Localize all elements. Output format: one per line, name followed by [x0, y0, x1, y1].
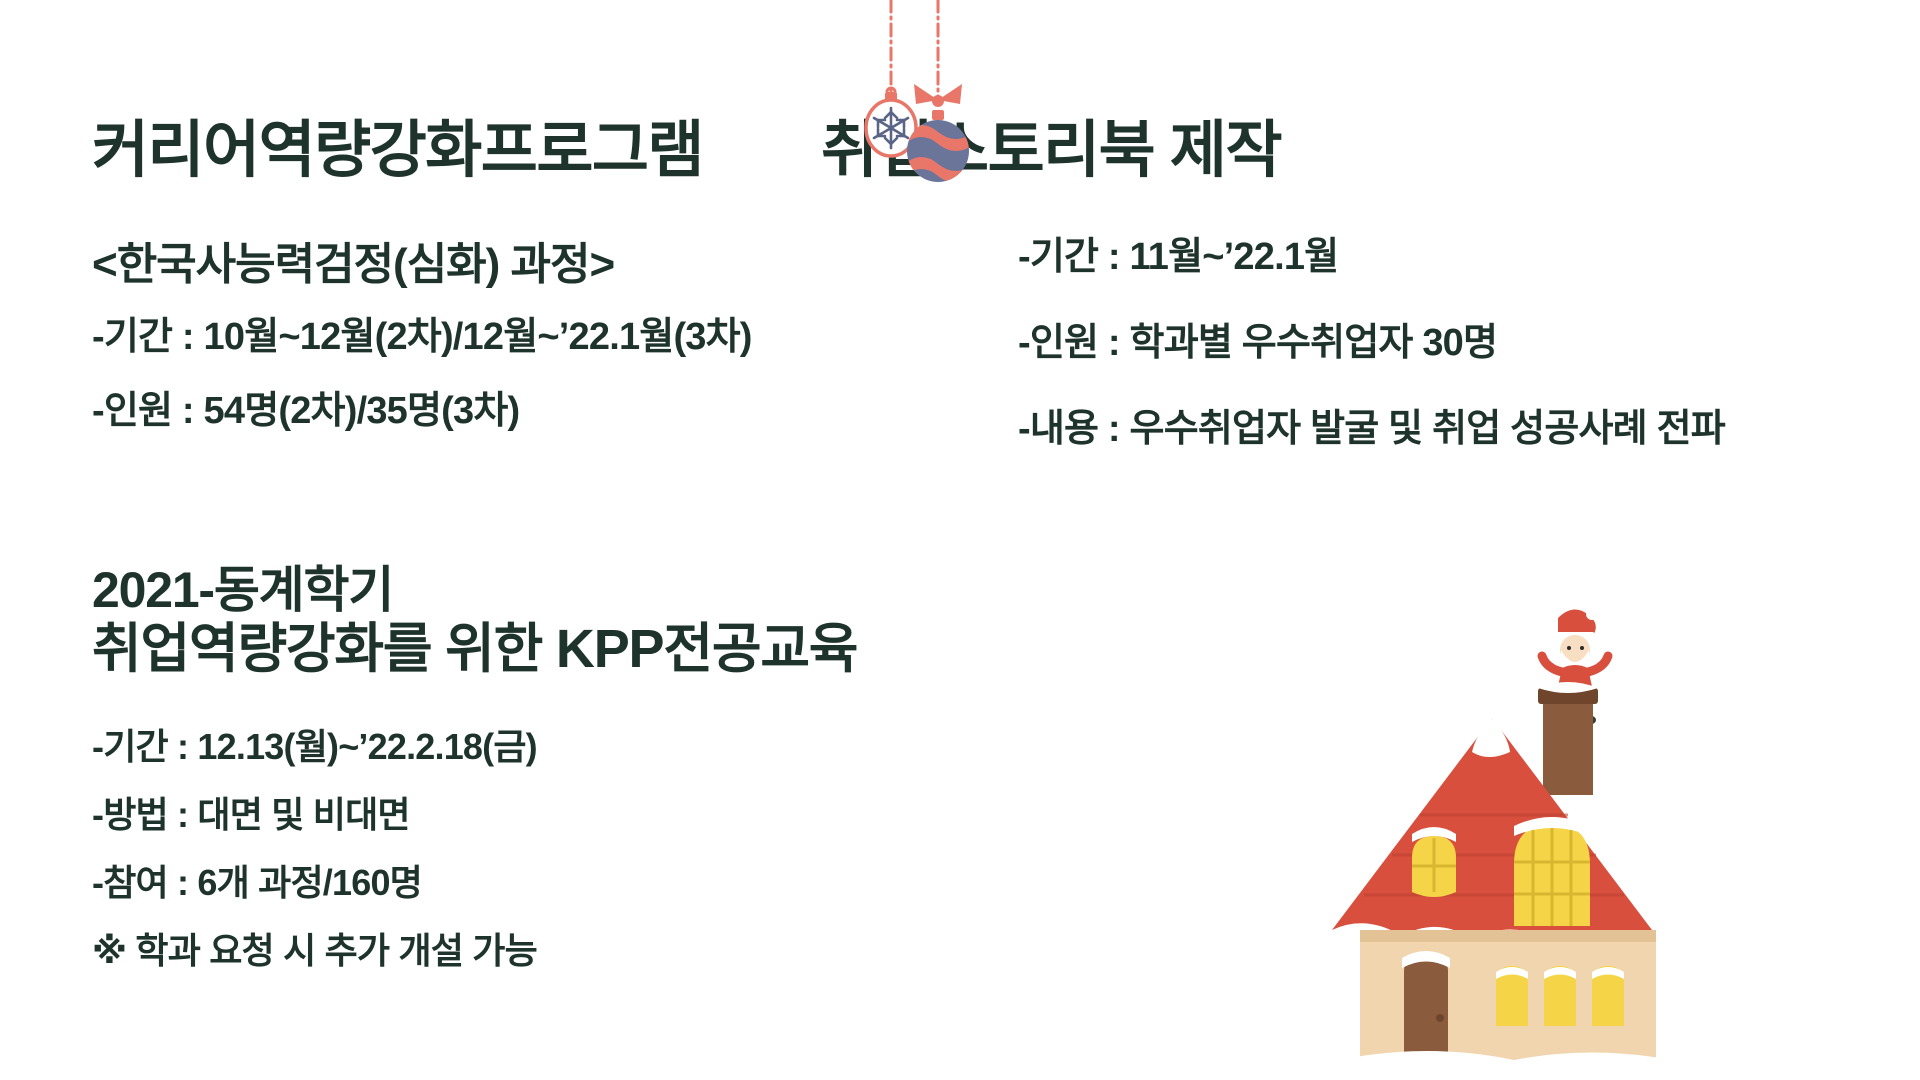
tan-house-wall-icon: [1360, 930, 1656, 1060]
ground-snow-icon: [1338, 1051, 1682, 1070]
yellow-windows-icon: [1412, 817, 1624, 1026]
section-kpp-note-line: ※ 학과 요청 시 추가 개설 가능: [92, 933, 1192, 969]
right-column-period-line: -기간 : 11월~’22.1월: [1018, 238, 1898, 276]
left-column-period-line: -기간 : 10월~12월(2차)/12월~’22.1월(3차): [92, 318, 972, 356]
chimney-icon: [1538, 682, 1598, 795]
section-kpp-period-line: -기간 : 12.13(월)~’22.2.18(금): [92, 729, 1192, 765]
section-kpp: 2021-동계학기 취업역량강화를 위한 KPP전공교육 -기간 : 12.13…: [92, 562, 1192, 969]
right-column-headcount-line: -인원 : 학과별 우수취업자 30명: [1018, 324, 1898, 362]
right-column-content-line: -내용 : 우수취업자 발굴 및 취업 성공사례 전파: [1018, 410, 1898, 448]
right-column: -기간 : 11월~’22.1월 -인원 : 학과별 우수취업자 30명 -내용…: [1018, 238, 1898, 496]
santa-on-snowy-house-illustration: [1300, 600, 1720, 1070]
title-right-text: 취업스토리북 제작: [821, 120, 1281, 182]
left-column-heading: <한국사능력검정(심화) 과정>: [92, 238, 972, 292]
section-kpp-participation-line: -참여 : 6개 과정/160명: [92, 865, 1192, 901]
snow-covered-red-roof-icon: [1332, 718, 1652, 958]
left-column-headcount-line: -인원 : 54명(2차)/35명(3차): [92, 392, 972, 430]
slide-canvas: 커리어역량강화프로그램 취업스토리북 제작: [0, 0, 1920, 1080]
title-ornament-spacer: [703, 151, 821, 152]
page-title: 커리어역량강화프로그램 취업스토리북 제작: [92, 108, 1812, 194]
brown-door-icon: [1402, 951, 1450, 1064]
section-kpp-method-line: -방법 : 대면 및 비대면: [92, 797, 1192, 833]
left-column: <한국사능력검정(심화) 과정> -기간 : 10월~12월(2차)/12월~’…: [92, 238, 972, 466]
section-kpp-heading-line1: 2021-동계학기: [92, 562, 1192, 619]
santa-figure-icon: [1542, 608, 1608, 725]
section-kpp-heading-line2: 취업역량강화를 위한 KPP전공교육: [92, 619, 1192, 681]
title-left-text: 커리어역량강화프로그램: [92, 120, 703, 182]
